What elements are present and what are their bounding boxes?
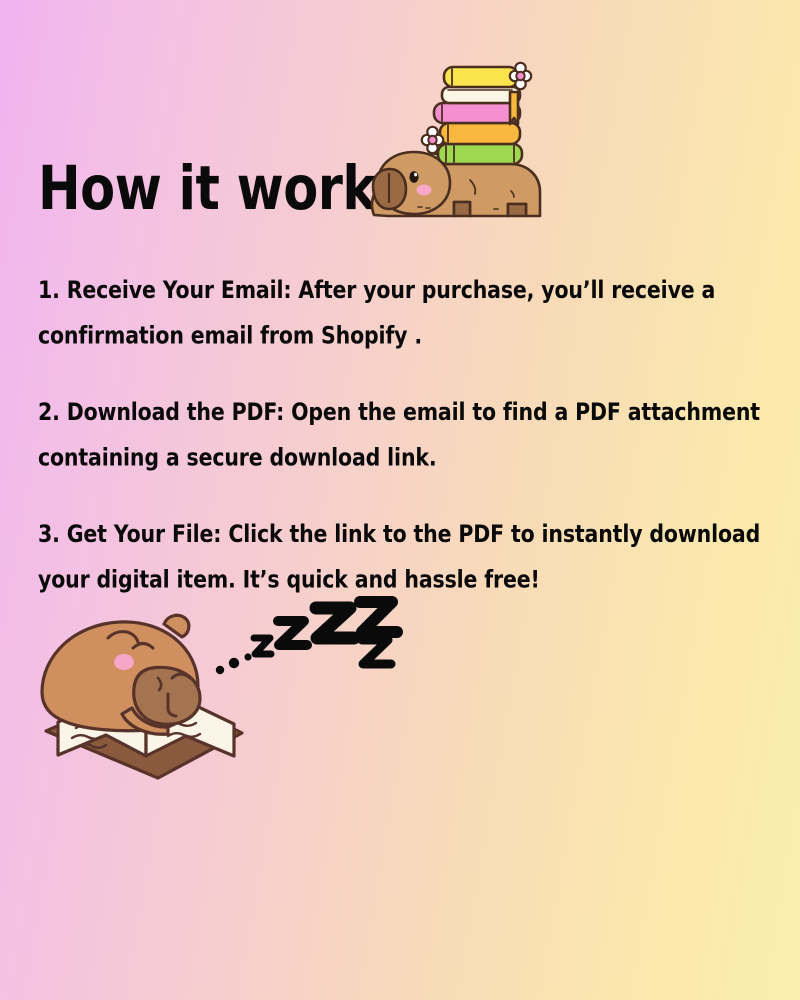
zzz-dot-3 [244,653,251,660]
sleeping-capybara-blush [114,654,134,670]
capybara-eye [409,171,418,183]
book-green [438,144,522,164]
step-2: 2. Download the PDF: Open the email to f… [38,390,764,480]
zzz-glyph-5 [362,640,391,664]
zzz-glyph-4 [360,602,397,632]
book-yellow [444,67,518,87]
step-1: 1. Receive Your Email: After your purcha… [38,268,764,358]
book-orange [440,123,520,144]
capybara-back-foot [508,204,526,216]
zzz-sleep-indicator [210,588,410,680]
zzz-dot-1 [216,666,224,674]
capybara-front-foot [454,202,470,216]
capybara-blush [417,185,432,196]
poster-canvas: How it works [0,0,800,1000]
page-title: How it works [38,158,406,219]
bookmark-ribbon [510,92,518,124]
zzz-dot-2 [229,658,239,668]
zzz-glyph-3 [316,608,354,638]
steps-list: 1. Receive Your Email: After your purcha… [38,268,764,590]
zzz-glyph-2 [278,621,307,645]
capybara-with-books-illustration [358,52,558,242]
zzz-glyph-1 [254,638,271,654]
book-pink [434,103,520,123]
